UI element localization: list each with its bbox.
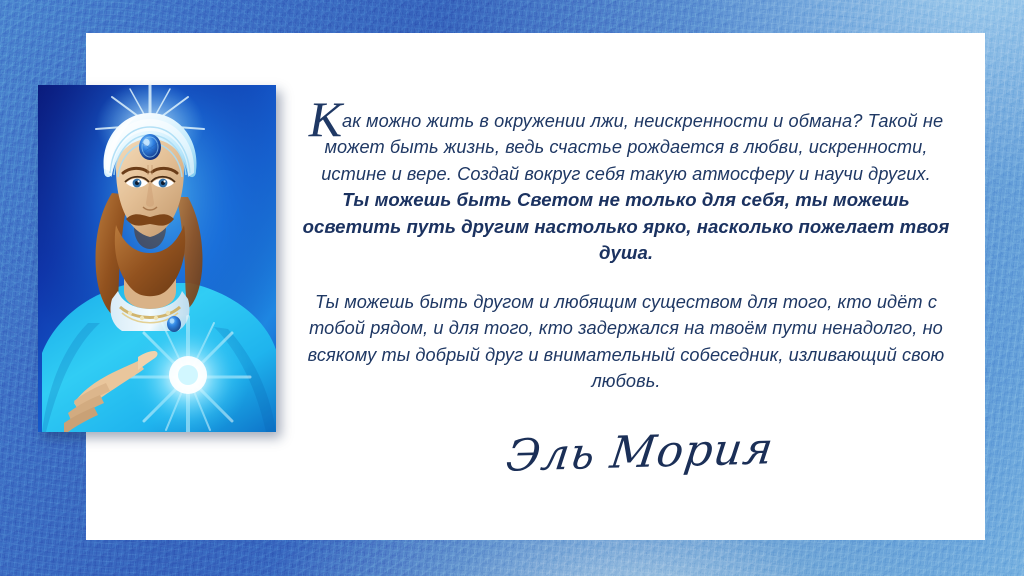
quote-paragraph-3: Ты можешь быть другом и любящим существо… — [296, 289, 956, 395]
slide-canvas: Как можно жить в окружении лжи, неискрен… — [0, 0, 1024, 576]
chest-light-burst — [126, 315, 250, 432]
quote-paragraph-2-bold: Ты можешь быть Светом не только для себя… — [296, 187, 956, 267]
quote-paragraph-1-text: ак можно жить в окружении лжи, неискренн… — [321, 111, 943, 184]
quote-text-block: Как можно жить в окружении лжи, неискрен… — [296, 108, 956, 395]
portrait-frame — [38, 85, 276, 432]
master-portrait-illustration — [38, 85, 276, 432]
author-signature: Эль Мория — [425, 418, 854, 488]
quote-paragraph-1: Как можно жить в окружении лжи, неискрен… — [296, 108, 956, 187]
